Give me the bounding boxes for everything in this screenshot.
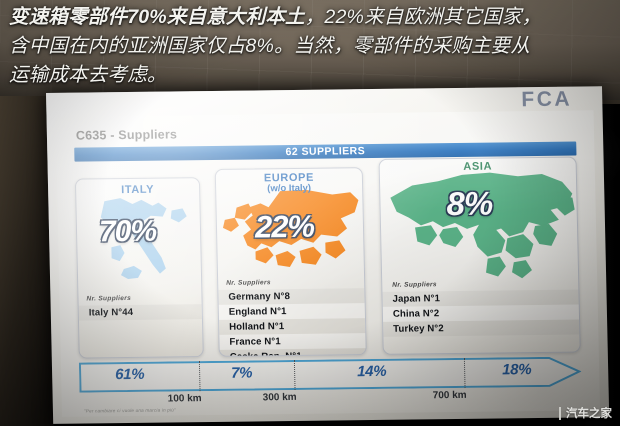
caption-line-3: 运输成本去考虑。 [9, 61, 613, 90]
panel-asia-nr-label: Nr. Suppliers [392, 281, 437, 289]
distance-arrow-chart: 61% 7% 14% 18% 100 km 300 km 700 km "Per… [79, 356, 582, 416]
arrow-km-300: 300 km [263, 392, 297, 403]
projection-screen: FCA FIAT CHRYSLER AUTOMOBILES C635 - Sup… [46, 86, 609, 424]
panel-asia-title: ASIA [380, 160, 576, 174]
panel-europe[interactable]: EUROPE (w/o Italy) 22% Nr. Suppliers Ger… [215, 167, 367, 357]
watermark-bar-icon [559, 407, 561, 420]
caption-line-2: 含中国在内的亚洲国家仅占8%。当然，零部件的采购主要从 [9, 32, 613, 61]
panel-italy[interactable]: ITALY 70% Nr. Suppliers Italy N°44 [75, 177, 204, 358]
watermark-text: 汽车之家 [566, 405, 612, 421]
caption-line-1-bold: 变速箱零部件70%来自意大利本土 [9, 6, 305, 28]
caption-line-1: 变速箱零部件70%来自意大利本土，22%来自欧洲其它国家， [9, 3, 613, 32]
panel-italy-percent: 70% [99, 215, 157, 250]
arrow-percent-3: 18% [502, 361, 531, 378]
panel-asia[interactable]: ASIA 8% Nr. Suppliers Japan N°1 China N°… [379, 157, 581, 355]
caption-overlay: 变速箱零部件70%来自意大利本土，22%来自欧洲其它国家， 含中国在内的亚洲国家… [9, 3, 613, 90]
caption-line-1-rest: ，22%来自欧洲其它国家， [305, 6, 542, 28]
panel-europe-subtitle: (w/o Italy) [216, 182, 362, 195]
panel-europe-supplier-list: Germany N°8 England N°1 Holland N°1 Fran… [218, 288, 366, 357]
arrow-percent-1: 7% [231, 364, 252, 381]
screenshot-root: FCA FIAT CHRYSLER AUTOMOBILES C635 - Sup… [0, 0, 620, 426]
panel-italy-nr-label: Nr. Suppliers [86, 295, 131, 303]
fca-logo-text: FCA [507, 88, 587, 110]
slide-footnote: "Per cambiare ci vuole una marcia in più… [84, 407, 176, 413]
panel-asia-supplier-list: Japan N°1 China N°2 Turkey N°2 [382, 290, 579, 337]
list-item: Holland N°1 [219, 318, 365, 335]
list-item: Turkey N°2 [383, 319, 579, 336]
asia-map-icon [382, 166, 579, 286]
arrow-percent-0: 61% [115, 366, 144, 383]
panel-europe-nr-label: Nr. Suppliers [226, 279, 271, 287]
watermark: 汽车之家 [559, 405, 612, 421]
list-item: Italy N°44 [79, 304, 202, 320]
panel-italy-title: ITALY [76, 183, 199, 196]
panel-italy-supplier-list: Italy N°44 [79, 304, 202, 320]
slide-title: C635 - Suppliers [76, 127, 177, 142]
panel-asia-percent: 8% [446, 185, 493, 224]
region-panels: ITALY 70% Nr. Suppliers Italy N°44 [75, 161, 581, 359]
panel-europe-percent: 22% [255, 209, 315, 246]
wall-left-strip [0, 96, 54, 426]
list-item: Ceska Rep. N°1 [220, 348, 366, 357]
arrow-km-700: 700 km [433, 390, 467, 401]
arrow-percent-2: 14% [357, 363, 386, 380]
arrow-km-100: 100 km [168, 393, 202, 404]
slide-content: C635 - Suppliers 62 SUPPLIERS [56, 110, 601, 417]
